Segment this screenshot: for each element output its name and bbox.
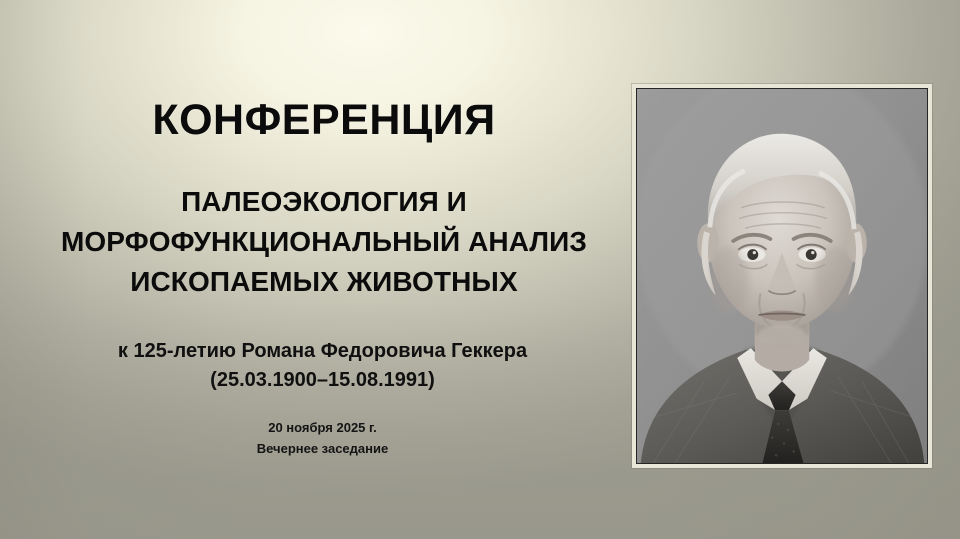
session-block: 20 ноября 2025 г. Вечернее заседание <box>0 418 645 460</box>
session-name: Вечернее заседание <box>0 439 645 460</box>
portrait-frame <box>632 84 932 468</box>
presentation-slide: КОНФЕРЕНЦИЯ ПАЛЕОЭКОЛОГИЯ И МОРФОФУНКЦИО… <box>0 0 960 539</box>
portrait-image <box>637 89 927 463</box>
portrait-photo <box>636 88 928 464</box>
page-title: КОНФЕРЕНЦИЯ <box>0 98 648 143</box>
subject-line-3: ИСКОПАЕМЫХ ЖИВОТНЫХ <box>0 262 648 302</box>
dedication-anniversary: к 125-летию Романа Федоровича Геккера <box>0 337 645 366</box>
subject-line-2: МОРФОФУНКЦИОНАЛЬНЫЙ АНАЛИЗ <box>0 222 648 262</box>
slide-text-column: КОНФЕРЕНЦИЯ ПАЛЕОЭКОЛОГИЯ И МОРФОФУНКЦИО… <box>0 0 648 539</box>
session-date: 20 ноября 2025 г. <box>0 418 645 439</box>
dedication-life-dates: (25.03.1900–15.08.1991) <box>0 366 645 395</box>
dedication-block: к 125-летию Романа Федоровича Геккера (2… <box>0 337 645 395</box>
conference-subject: ПАЛЕОЭКОЛОГИЯ И МОРФОФУНКЦИОНАЛЬНЫЙ АНАЛ… <box>0 182 648 301</box>
subject-line-1: ПАЛЕОЭКОЛОГИЯ И <box>0 182 648 222</box>
